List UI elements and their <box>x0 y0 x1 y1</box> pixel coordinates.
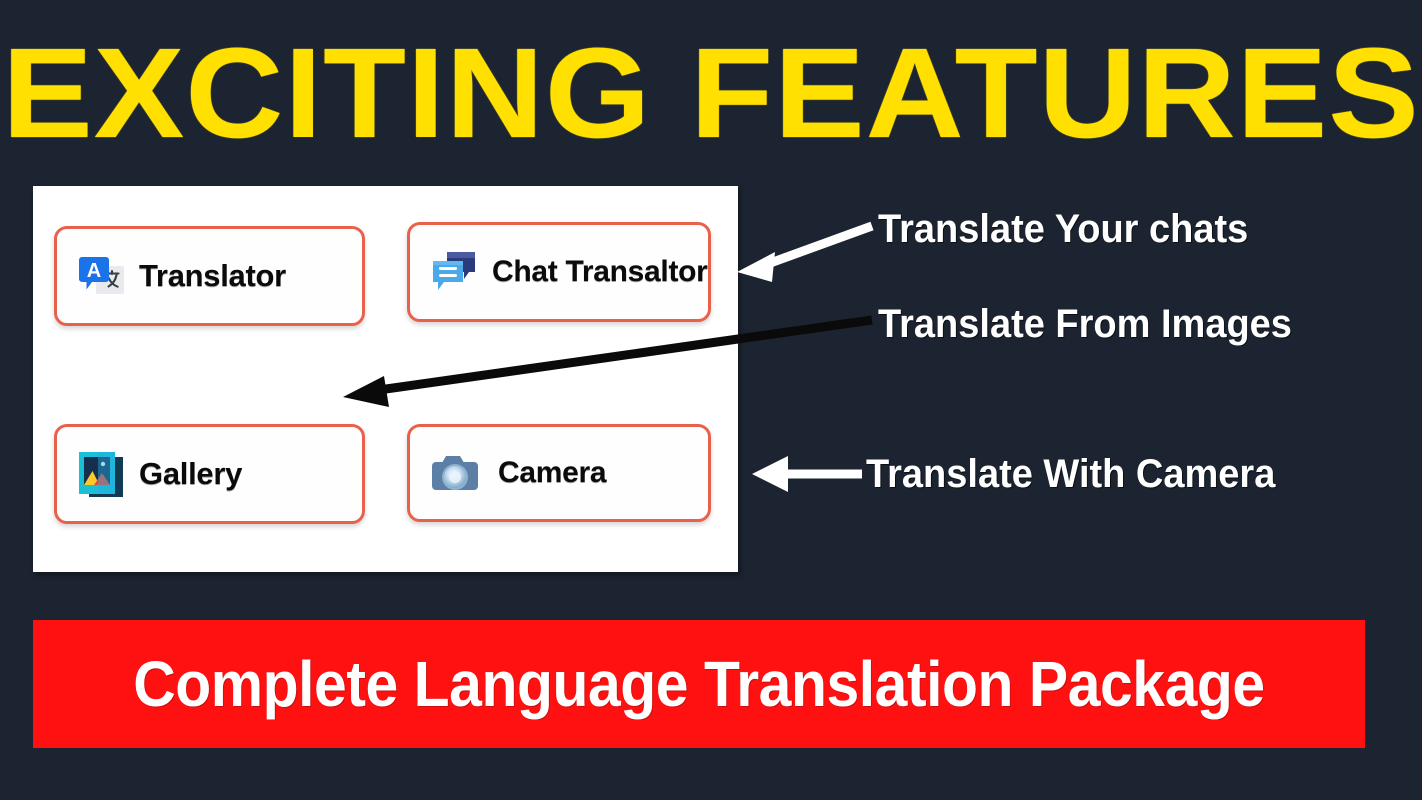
feature-label: Camera <box>498 456 606 490</box>
feature-card-translator[interactable]: A Translator <box>54 226 365 326</box>
feature-grid: A Translator Chat Transa <box>33 186 738 572</box>
feature-card-gallery[interactable]: Gallery <box>54 424 365 524</box>
feature-label: Translator <box>139 258 286 294</box>
annotation-translate-from-images: Translate From Images <box>878 302 1292 346</box>
page-title: EXCITING FEATURES <box>0 28 1422 160</box>
camera-icon <box>428 446 482 500</box>
feature-card-chat-translator[interactable]: Chat Transaltor <box>407 222 711 322</box>
annotation-translate-with-camera: Translate With Camera <box>866 452 1275 496</box>
svg-text:A: A <box>87 260 101 282</box>
feature-label: Gallery <box>139 456 242 492</box>
translate-icon: A <box>75 249 129 303</box>
feature-card-camera[interactable]: Camera <box>407 424 711 522</box>
app-feature-panel: A Translator Chat Transa <box>33 186 738 572</box>
feature-label: Chat Transaltor <box>492 255 708 289</box>
bottom-banner: Complete Language Translation Package <box>33 620 1365 748</box>
annotation-translate-your-chats: Translate Your chats <box>878 207 1248 251</box>
chat-bubbles-icon <box>428 245 482 299</box>
white-horizontal-arrow-left <box>752 456 862 492</box>
promo-graphic: EXCITING FEATURES A Translator <box>0 0 1422 800</box>
banner-text: Complete Language Translation Package <box>133 647 1264 721</box>
photo-gallery-icon <box>75 447 129 501</box>
white-diagonal-arrow-left <box>737 226 872 282</box>
